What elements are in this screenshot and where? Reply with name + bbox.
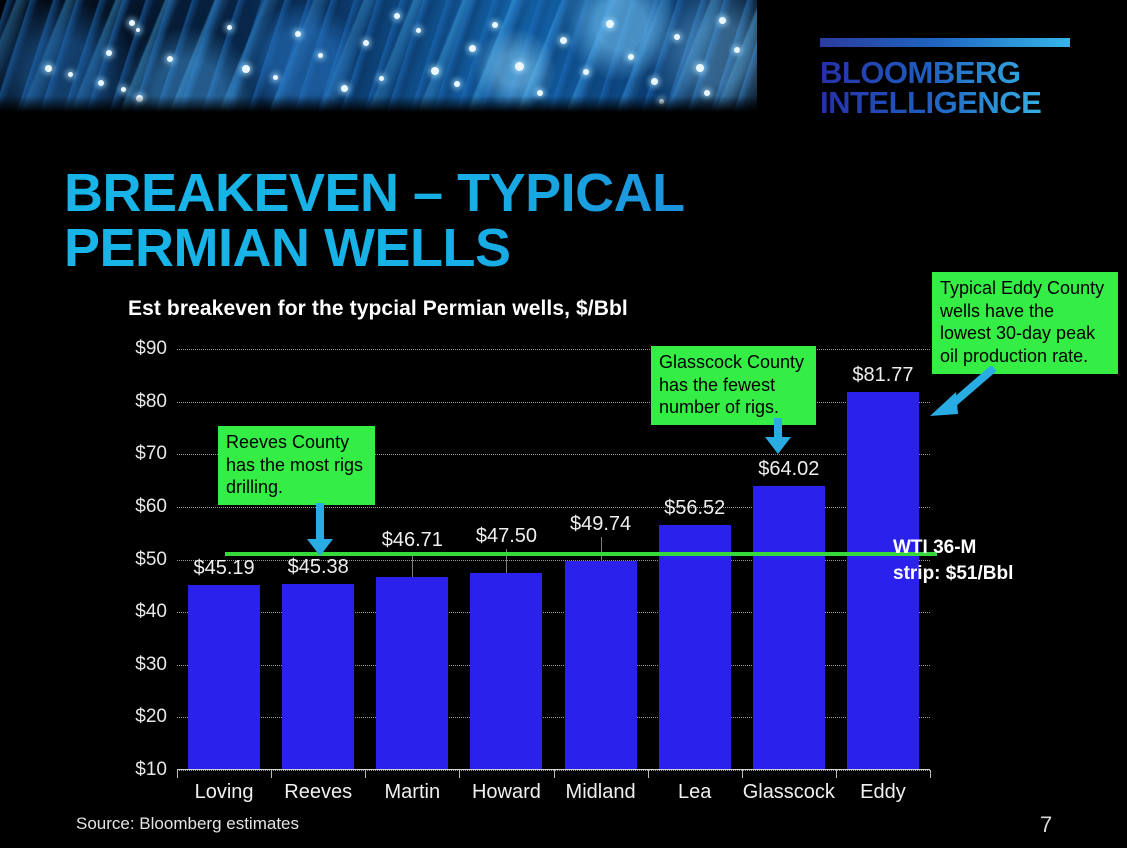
x-axis-tick (648, 770, 649, 778)
wti-label-line-2: strip: $51/Bbl (893, 561, 1013, 587)
page-number: 7 (1040, 812, 1052, 838)
x-axis-tick (554, 770, 555, 778)
x-axis-tick (742, 770, 743, 778)
x-axis-tick (459, 770, 460, 778)
wti-label-line-1: WTI 36-M (893, 535, 1013, 561)
bar-value-label: $47.50 (476, 525, 537, 548)
x-axis-category-label: Howard (472, 781, 541, 804)
x-axis-category-label: Lea (678, 781, 711, 804)
logo-line-2: INTELLIGENCE (820, 88, 1080, 118)
callout-arrow-reeves-icon (307, 503, 333, 556)
x-axis-category-label: Midland (566, 781, 636, 804)
bar-label-leader-line (412, 553, 413, 577)
x-axis-category-label: Eddy (860, 781, 906, 804)
fiber-optic-banner-image (0, 0, 757, 112)
bar-howard (470, 573, 542, 770)
x-axis-tick (365, 770, 366, 778)
y-axis-tick-label: $20 (135, 706, 167, 728)
x-axis-category-label: Martin (385, 781, 441, 804)
chart-title: Est breakeven for the typcial Permian we… (128, 297, 628, 321)
x-axis-category-label: Glasscock (743, 781, 835, 804)
bar-midland (565, 561, 637, 770)
x-axis-category-label: Reeves (284, 781, 352, 804)
gridline (177, 402, 930, 403)
bar-value-label: $56.52 (664, 497, 725, 520)
y-axis-tick-label: $40 (135, 601, 167, 623)
bar-lea (659, 525, 731, 770)
x-axis-tick (836, 770, 837, 778)
x-axis-tick (271, 770, 272, 778)
bar-value-label: $49.74 (570, 513, 631, 536)
slide-canvas: BLOOMBERG INTELLIGENCE BREAKEVEN – TYPIC… (0, 0, 1127, 848)
wti-reference-label: WTI 36-M strip: $51/Bbl (893, 535, 1013, 586)
bar-value-label: $45.19 (193, 557, 254, 580)
callout-glasscock: Glasscock County has the fewest number o… (651, 346, 816, 425)
y-axis-tick-label: $90 (135, 338, 167, 360)
y-axis-tick-label: $60 (135, 496, 167, 518)
y-axis-tick-label: $30 (135, 654, 167, 676)
y-axis-tick-label: $50 (135, 549, 167, 571)
chart-plot-area: $90$80$70$60$50$40$30$20$10 $45.19$45.38… (177, 349, 930, 770)
bar-loving (188, 585, 260, 770)
bar-glasscock (753, 486, 825, 770)
gridline (177, 349, 930, 350)
bar-value-label: $81.77 (852, 364, 913, 387)
bar-reeves (282, 584, 354, 770)
bar-martin (376, 577, 448, 770)
slide-title: BREAKEVEN – TYPICAL PERMIAN WELLS (64, 166, 824, 276)
bar-label-leader-line (601, 537, 602, 561)
banner-bottom-fade (0, 96, 757, 112)
y-axis-tick-label: $10 (135, 759, 167, 781)
bar-value-label: $64.02 (758, 458, 819, 481)
y-axis-tick-label: $70 (135, 443, 167, 465)
callout-reeves: Reeves County has the most rigs drilling… (218, 426, 375, 505)
x-axis-category-label: Loving (195, 781, 254, 804)
y-axis-tick-label: $80 (135, 391, 167, 413)
x-axis-tick (177, 770, 178, 778)
callout-arrow-eddy-icon (920, 366, 1000, 422)
callout-eddy: Typical Eddy County wells have the lowes… (932, 272, 1118, 374)
x-axis-tick (930, 770, 931, 778)
bloomberg-intelligence-logo: BLOOMBERG INTELLIGENCE (820, 38, 1080, 119)
callout-arrow-glasscock-icon (765, 418, 791, 454)
bar-value-label: $45.38 (288, 556, 349, 579)
source-note: Source: Bloomberg estimates (76, 814, 299, 834)
logo-line-1: BLOOMBERG (820, 58, 1080, 88)
logo-rule (820, 38, 1070, 47)
bar-value-label: $46.71 (382, 529, 443, 552)
